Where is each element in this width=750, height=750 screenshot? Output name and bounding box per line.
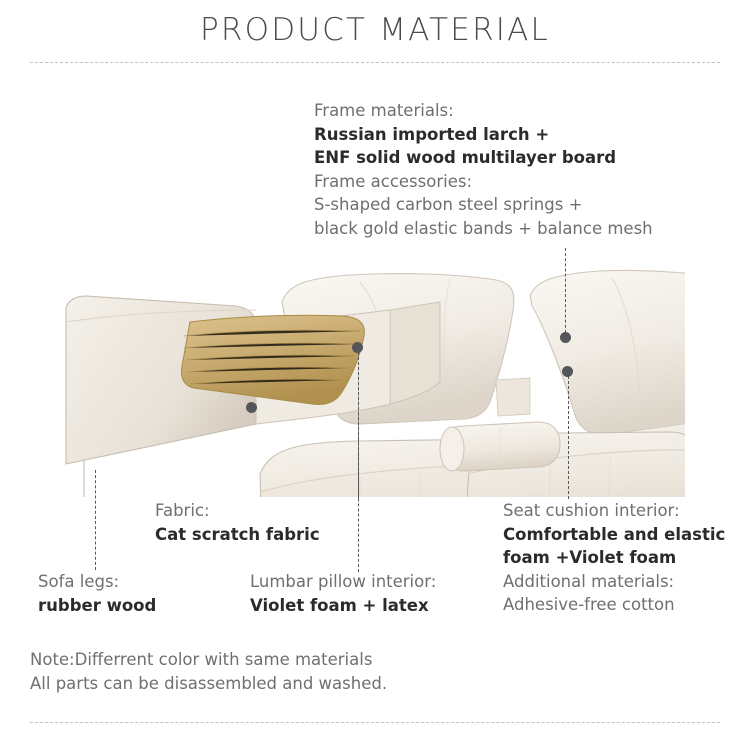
footer-note-line-0: Note:Differrent color with same material…	[30, 648, 387, 672]
callout-seat-line-3: Additional materials:	[503, 570, 725, 594]
footer-note-line-1: All parts can be disassembled and washed…	[30, 672, 387, 696]
callout-frame-line-1: Russian imported larch +	[314, 123, 653, 147]
leader-line-lumbar	[358, 347, 359, 572]
bolster-pillow	[440, 422, 560, 471]
callout-legs: Sofa legs: rubber wood	[38, 570, 156, 617]
callout-frame: Frame materials: Russian imported larch …	[314, 99, 653, 240]
divider-bottom	[30, 722, 720, 723]
callout-lumbar-line-0: Lumbar pillow interior:	[250, 570, 436, 594]
callout-seat-line-0: Seat cushion interior:	[503, 499, 725, 523]
callout-fabric: Fabric: Cat scratch fabric	[155, 499, 320, 546]
callout-legs-line-0: Sofa legs:	[38, 570, 156, 594]
callout-frame-line-5: black gold elastic bands + balance mesh	[314, 217, 653, 241]
callout-lumbar: Lumbar pillow interior: Violet foam + la…	[250, 570, 436, 617]
callout-seat-line-1: Comfortable and elastic	[503, 523, 725, 547]
footer-note: Note:Differrent color with same material…	[30, 648, 387, 695]
marker-dot-fabric	[246, 402, 257, 413]
callout-legs-line-1: rubber wood	[38, 594, 156, 618]
callout-seat-line-4: Adhesive-free cotton	[503, 593, 725, 617]
leader-line-frame	[565, 248, 566, 338]
page-title: PRODUCT MATERIAL	[0, 12, 750, 48]
callout-frame-line-2: ENF solid wood multilayer board	[314, 146, 653, 170]
callout-lumbar-line-1: Violet foam + latex	[250, 594, 436, 618]
callout-seat-line-2: foam +Violet foam	[503, 546, 725, 570]
leader-line-seat	[568, 371, 569, 499]
callout-frame-line-0: Frame materials:	[314, 99, 653, 123]
callout-frame-line-4: S-shaped carbon steel springs +	[314, 193, 653, 217]
callout-fabric-line-0: Fabric:	[155, 499, 320, 523]
leader-line-legs	[95, 470, 96, 570]
callout-seat: Seat cushion interior: Comfortable and e…	[503, 499, 725, 617]
divider-top	[30, 62, 720, 63]
callout-frame-line-3: Frame accessories:	[314, 170, 653, 194]
callout-fabric-line-1: Cat scratch fabric	[155, 523, 320, 547]
back-cushion-right	[530, 270, 685, 434]
sofa-product-image	[60, 252, 685, 497]
